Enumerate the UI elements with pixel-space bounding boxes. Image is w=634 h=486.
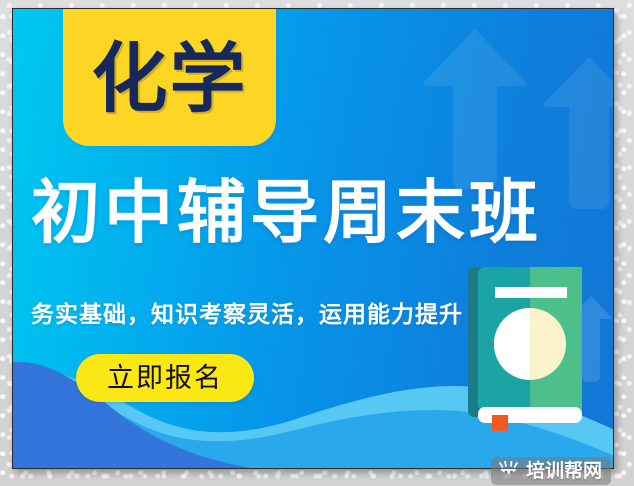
page-backdrop: 化学 初中辅导周末班 务实基础，知识考察灵活，运用能力提升 立即报名 — [0, 0, 634, 486]
sun-face-icon — [498, 461, 520, 481]
watermark-label: 培训帮网 — [526, 462, 602, 481]
watermark: 培训帮网 — [491, 457, 611, 485]
promo-banner[interactable]: 化学 初中辅导周末班 务实基础，知识考察灵活，运用能力提升 立即报名 — [12, 8, 614, 469]
book-icon — [468, 259, 586, 431]
enroll-now-button-label: 立即报名 — [107, 365, 223, 392]
subject-badge-label: 化学 — [92, 41, 248, 117]
page-title: 初中辅导周末班 — [31, 177, 601, 249]
enroll-now-button[interactable]: 立即报名 — [76, 354, 254, 402]
up-arrow-icon — [421, 29, 529, 189]
subject-badge: 化学 — [63, 8, 276, 146]
subtitle-text: 务实基础，知识考察灵活，运用能力提升 — [31, 295, 463, 329]
